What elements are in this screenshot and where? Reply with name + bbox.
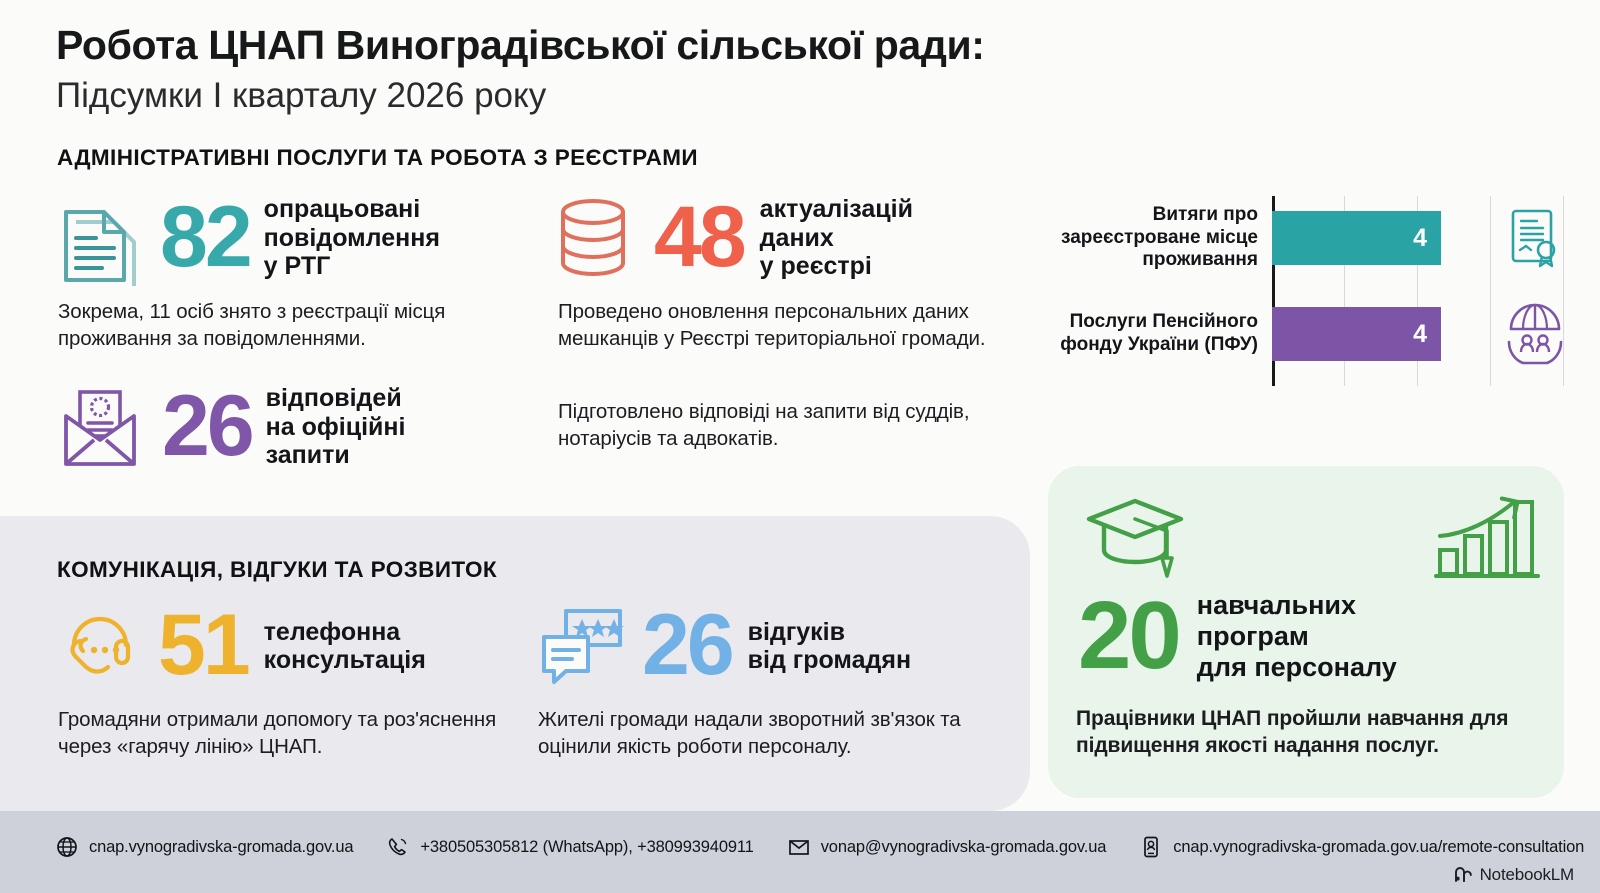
- footer-contacts: cnap.vynogradivska-gromada.gov.ua +38050…: [56, 836, 1584, 858]
- stat-value: 51: [158, 606, 248, 685]
- stat-official-requests: 26 відповідей на офіційні запити: [56, 382, 405, 472]
- stat-label: відгуків від громадян: [748, 618, 911, 675]
- database-icon: [552, 190, 634, 286]
- envelope-letter-icon: [56, 382, 144, 472]
- footer-item-remote-consultation[interactable]: cnap.vynogradivska-gromada.gov.ua/remote…: [1140, 836, 1584, 858]
- stat-value: 20: [1078, 592, 1179, 680]
- chart-bar-pension-fund: 4: [1272, 307, 1441, 361]
- chart-plot-area: 4: [1272, 296, 1564, 372]
- growth-chart-icon: [1432, 492, 1542, 582]
- chart-row: Послуги Пенсійного фонду України (ПФУ) 4: [1044, 296, 1564, 372]
- headset-icon: [56, 603, 142, 689]
- stat-training-programs: 20 навчальних програм для персоналу: [1078, 590, 1397, 682]
- chat-stars-icon: [536, 603, 628, 689]
- stat-label: навчальних програм для персоналу: [1197, 590, 1397, 682]
- section-header-admin: АДМІНІСТРАТИВНІ ПОСЛУГИ ТА РОБОТА З РЕЄС…: [57, 145, 698, 171]
- chart-bar-value: 4: [1413, 320, 1441, 349]
- contact-card-icon: [1140, 836, 1162, 858]
- stat-label: актуалізацій даних у реєстрі: [760, 195, 913, 281]
- stat-label: телефонна консультація: [264, 618, 426, 675]
- chart-row: Витяги про зареєстроване місце проживанн…: [1044, 200, 1564, 276]
- stat-value: 26: [162, 387, 252, 466]
- stat-caption-training-programs: Працівники ЦНАП пройшли навчання для під…: [1076, 705, 1546, 760]
- stat-caption-official-requests: Підготовлено відповіді на запити від суд…: [558, 398, 1028, 452]
- footer-text: vonap@vynogradivska-gromada.gov.ua: [821, 838, 1107, 857]
- footer-text: +380505305812 (WhatsApp), +380993940911: [420, 838, 753, 857]
- stat-value: 48: [654, 198, 744, 277]
- stat-processed-messages: 82 опрацьовані повідомлення у РТГ: [56, 190, 440, 286]
- section-header-communication: КОМУНІКАЦІЯ, ВІДГУКИ ТА РОЗВИТОК: [57, 557, 497, 583]
- page-title: Робота ЦНАП Виноградівської сільської ра…: [56, 22, 1256, 117]
- chart-plot-area: 4: [1272, 200, 1564, 276]
- certificate-icon: [1504, 206, 1566, 270]
- title-subtitle: Підсумки І кварталу 2026 року: [56, 75, 1256, 117]
- services-bar-chart: Витяги про зареєстроване місце проживанн…: [1044, 196, 1564, 386]
- stat-registry-updates: 48 актуалізацій даних у реєстрі: [552, 190, 913, 286]
- title-main: Робота ЦНАП Виноградівської сільської ра…: [56, 22, 1256, 69]
- stat-caption-processed-messages: Зокрема, 11 осіб знято з реєстрації місц…: [58, 298, 528, 352]
- notebooklm-watermark: NotebookLM: [1453, 865, 1574, 885]
- graduation-cap-icon: [1082, 492, 1192, 582]
- footer-item-email[interactable]: vonap@vynogradivska-gromada.gov.ua: [788, 836, 1107, 858]
- stat-caption-citizen-feedback: Жителі громади надали зворотний зв'язок …: [538, 706, 1028, 760]
- chart-category-label: Витяги про зареєстроване місце проживанн…: [1044, 204, 1272, 272]
- phone-icon: [387, 836, 409, 858]
- footer-item-phone[interactable]: +380505305812 (WhatsApp), +380993940911: [387, 836, 753, 858]
- notebooklm-logo-icon: [1453, 866, 1473, 884]
- chart-bar-extracts: 4: [1272, 211, 1441, 265]
- chart-bar-value: 4: [1413, 224, 1441, 253]
- document-icon: [56, 190, 142, 286]
- stat-value: 82: [160, 198, 250, 277]
- chart-category-label: Послуги Пенсійного фонду України (ПФУ): [1044, 311, 1272, 357]
- stat-caption-registry-updates: Проведено оновлення персональних даних м…: [558, 298, 1058, 352]
- footer-item-website[interactable]: cnap.vynogradivska-gromada.gov.ua: [56, 836, 353, 858]
- footer-text: cnap.vynogradivska-gromada.gov.ua/remote…: [1173, 838, 1584, 857]
- infographic-page: Робота ЦНАП Виноградівської сільської ра…: [0, 0, 1600, 893]
- stat-phone-consultations: 51 телефонна консультація: [56, 603, 426, 689]
- globe-icon: [56, 836, 78, 858]
- mail-icon: [788, 836, 810, 858]
- notebooklm-label: NotebookLM: [1480, 865, 1574, 885]
- stat-label: опрацьовані повідомлення у РТГ: [264, 195, 440, 281]
- umbrella-family-icon: [1504, 302, 1566, 366]
- stat-citizen-feedback: 26 відгуків від громадян: [536, 603, 911, 689]
- footer-bar: cnap.vynogradivska-gromada.gov.ua +38050…: [0, 811, 1600, 893]
- stat-caption-phone-consultations: Громадяни отримали допомогу та роз'яснен…: [58, 706, 528, 760]
- stat-label: відповідей на офіційні запити: [266, 384, 406, 470]
- footer-text: cnap.vynogradivska-gromada.gov.ua: [89, 838, 353, 857]
- stat-value: 26: [642, 606, 732, 685]
